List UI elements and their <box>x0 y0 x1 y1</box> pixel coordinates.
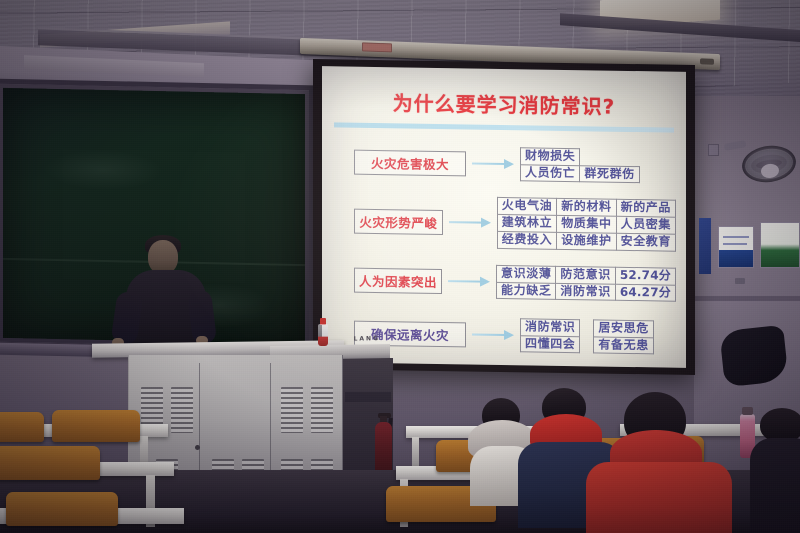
student-jacket-red <box>586 462 732 533</box>
table-cell: 新的材料 <box>557 199 616 217</box>
table-cell: 能力缺乏 <box>497 282 556 300</box>
vent-grille <box>281 387 303 433</box>
student-jacket-dark <box>750 438 800 533</box>
thermos-cap <box>742 407 753 415</box>
projection-screen-frame: 为什么要学习消防常识? 火灾危害极大 财物损失 人员 <box>313 59 695 375</box>
table-row: 能力缺乏 消防常识 64.27分 <box>497 282 676 302</box>
slide-row: 人为因素突出 意识淡薄 防范意识 52.74分 能力缺乏 消防常识 <box>332 257 676 306</box>
table-cell: 安全教育 <box>616 233 675 251</box>
table-cell: 火电气油 <box>497 198 556 216</box>
row-table: 火电气油 新的材料 新的产品 建筑林立 物质集中 人员密集 经费投入 <box>497 197 676 251</box>
extinguisher-body <box>375 422 392 474</box>
wall-socket[interactable] <box>708 144 719 156</box>
table-row: 消防常识 居安思危 <box>521 318 654 337</box>
table-cell: 新的产品 <box>616 200 675 218</box>
wall-poster-green <box>760 222 800 268</box>
table-row: 人员伤亡 群死群伤 <box>521 164 640 183</box>
table-cell: 意识淡薄 <box>497 265 556 283</box>
slide-title: 为什么要学习消防常识? <box>332 86 676 120</box>
slide-row: 火灾危害极大 财物损失 人员伤亡 群死群伤 <box>332 139 676 188</box>
row-label-box: 火灾危害极大 <box>354 149 466 176</box>
student <box>754 408 800 533</box>
soffit-strip <box>24 55 204 77</box>
chair <box>0 446 100 480</box>
table-cell: 财物损失 <box>521 147 580 165</box>
classroom-scene: 为什么要学习消防常识? 火灾危害极大 财物损失 人员 <box>0 0 800 533</box>
table-cell: 有备无患 <box>594 336 653 354</box>
fire-extinguisher <box>374 410 394 474</box>
table-cell: 经费投入 <box>497 231 556 249</box>
title-divider <box>334 122 674 132</box>
table-row: 财物损失 <box>521 147 640 166</box>
row-label-box: 确保远离火灾 <box>354 320 466 347</box>
speaker-head <box>148 240 178 274</box>
row-table: 消防常识 居安思危 四懂四会 有备无患 <box>520 318 654 355</box>
table-cell-score: 52.74分 <box>615 267 675 285</box>
wall-poster-blue <box>718 226 754 268</box>
student <box>588 392 738 533</box>
table-cell: 防范意识 <box>556 266 615 284</box>
vent-grille <box>171 387 193 433</box>
table-gap <box>580 336 594 353</box>
bottle-body <box>318 324 328 346</box>
wall-rail <box>694 296 800 301</box>
arrow-right-icon <box>447 216 493 229</box>
table-row: 四懂四会 有备无患 <box>521 335 654 354</box>
row-label-box: 人为因素突出 <box>354 267 442 293</box>
table-row: 经费投入 设施维护 安全教育 <box>497 231 675 251</box>
podium-shelf <box>345 392 391 402</box>
row-table: 财物损失 人员伤亡 群死群伤 <box>520 147 640 183</box>
row-label-box: 火灾形势严峻 <box>354 208 443 234</box>
speaker <box>118 232 214 350</box>
arrow-right-icon <box>470 328 516 341</box>
roller-clip <box>362 42 392 52</box>
vent-grille <box>311 387 333 433</box>
table-gap <box>580 319 594 336</box>
table-cell: 群死群伤 <box>580 165 639 183</box>
table-cell: 居安思危 <box>594 320 653 338</box>
table-cell: 建筑林立 <box>497 214 556 232</box>
arrow-right-icon <box>470 157 516 170</box>
table-cell: 设施维护 <box>557 232 616 250</box>
table-cell: 人员密集 <box>616 216 675 234</box>
table-cell-score: 64.27分 <box>615 284 675 302</box>
chair <box>6 492 118 526</box>
row-table: 意识淡薄 防范意识 52.74分 能力缺乏 消防常识 64.27分 <box>496 265 676 302</box>
slide-rows: 火灾危害极大 财物损失 人员伤亡 群死群伤 <box>332 139 676 359</box>
water-bottle <box>318 318 328 346</box>
roller-cap <box>700 58 714 65</box>
wall-sign-vertical <box>699 218 711 274</box>
table-cell-empty <box>580 148 639 166</box>
chair <box>52 410 140 442</box>
table-cell: 人员伤亡 <box>521 164 580 182</box>
fan-cage <box>740 142 798 185</box>
table-cell: 消防常识 <box>556 283 615 301</box>
poster-text-line <box>723 243 747 245</box>
student-head <box>760 408 800 442</box>
podium-brand-label: LANG <box>354 335 380 342</box>
poster-text-line <box>723 236 749 238</box>
wall-hook <box>735 278 745 284</box>
slide-row: 火灾形势严峻 火电气油 新的材料 新的产品 建筑林立 物质集中 人 <box>332 192 676 253</box>
chalk-smudge <box>43 149 163 192</box>
chair <box>0 412 44 442</box>
wall-fan <box>742 138 796 184</box>
table-cell: 消防常识 <box>521 318 580 336</box>
projection-screen-surface: 为什么要学习消防常识? 火灾危害极大 财物损失 人员 <box>322 66 686 368</box>
table-cell: 四懂四会 <box>521 335 580 353</box>
arrow-right-icon <box>446 275 492 288</box>
presentation-slide: 为什么要学习消防常识? 火灾危害极大 财物损失 人员 <box>322 66 686 368</box>
table-cell: 物质集中 <box>557 215 616 233</box>
